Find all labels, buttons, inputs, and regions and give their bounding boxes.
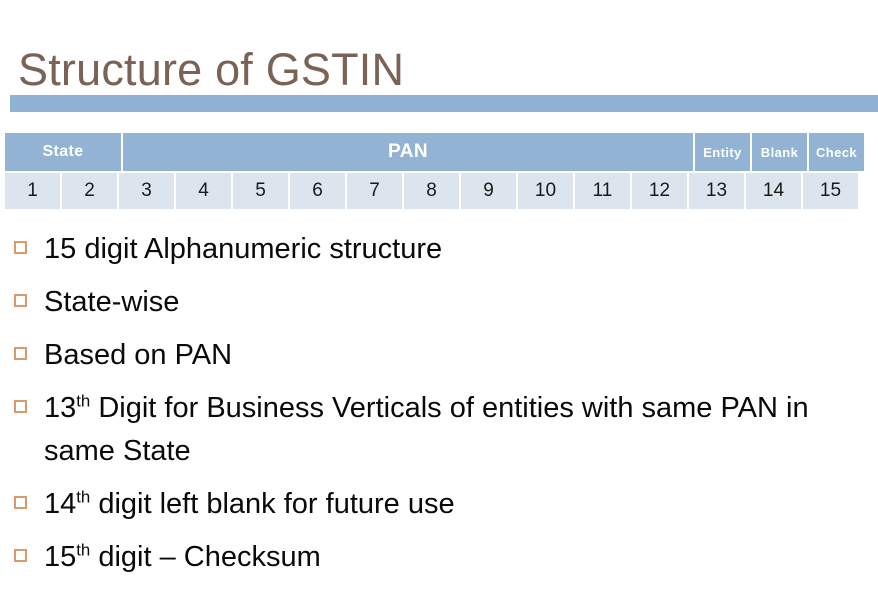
digit-cell: 14: [746, 173, 801, 209]
list-item-superscript: th: [76, 487, 90, 506]
digit-cell: 3: [119, 173, 174, 209]
page-title: Structure of GSTIN: [18, 42, 404, 98]
digit-cell: 15: [803, 173, 858, 209]
digit-cell: 5: [233, 173, 288, 209]
list-item: 13th Digit for Business Verticals of ent…: [14, 387, 872, 473]
list-item: State-wise: [14, 281, 872, 324]
list-item-prefix: 15: [44, 541, 76, 573]
digit-cell: 10: [518, 173, 573, 209]
digit-cell: 2: [62, 173, 117, 209]
list-item: 14th digit left blank for future use: [14, 483, 872, 526]
square-bullet-icon: [14, 241, 27, 254]
square-bullet-icon: [14, 496, 27, 509]
list-item: 15th digit – Checksum: [14, 536, 872, 579]
digit-cell: 8: [404, 173, 459, 209]
list-item-suffix: digit left blank for future use: [90, 488, 454, 520]
digit-cell: 9: [461, 173, 516, 209]
list-item-text: 15th digit – Checksum: [44, 536, 872, 579]
square-bullet-icon: [14, 549, 27, 562]
list-item-prefix: 15 digit Alphanumeric structure: [44, 233, 442, 265]
table-digit-row: 1 2 3 4 5 6 7 8 9 10 11 12 13 14 15: [5, 173, 865, 209]
table-header-row: State PAN Entity Blank Check: [5, 133, 865, 171]
digit-cell: 12: [632, 173, 687, 209]
title-accent-bar: [10, 95, 878, 112]
table-group-header-check: Check: [809, 133, 864, 171]
list-item-prefix: Based on PAN: [44, 339, 232, 371]
list-item-suffix: Digit for Business Verticals of entities…: [44, 392, 809, 467]
digit-cell: 11: [575, 173, 630, 209]
list-item-superscript: th: [76, 540, 90, 559]
list-item-prefix: 13: [44, 392, 76, 424]
table-group-header-state: State: [5, 133, 121, 171]
table-group-header-pan: PAN: [123, 133, 693, 171]
list-item-text: Based on PAN: [44, 334, 872, 377]
list-item-superscript: th: [76, 391, 90, 410]
list-item-text: 15 digit Alphanumeric structure: [44, 228, 872, 271]
digit-cell: 7: [347, 173, 402, 209]
list-item-prefix: 14: [44, 488, 76, 520]
list-item-text: 14th digit left blank for future use: [44, 483, 872, 526]
list-item-prefix: State-wise: [44, 286, 179, 318]
table-group-header-entity: Entity: [695, 133, 750, 171]
square-bullet-icon: [14, 400, 27, 413]
gstin-structure-table: State PAN Entity Blank Check 1 2 3 4 5 6…: [5, 133, 865, 209]
list-item: Based on PAN: [14, 334, 872, 377]
square-bullet-icon: [14, 294, 27, 307]
bullet-list: 15 digit Alphanumeric structure State-wi…: [14, 228, 872, 589]
digit-cell: 4: [176, 173, 231, 209]
list-item: 15 digit Alphanumeric structure: [14, 228, 872, 271]
list-item-suffix: digit – Checksum: [90, 541, 321, 573]
slide-canvas: Structure of GSTIN State PAN Entity Blan…: [0, 0, 878, 599]
square-bullet-icon: [14, 347, 27, 360]
digit-cell: 6: [290, 173, 345, 209]
list-item-text: 13th Digit for Business Verticals of ent…: [44, 387, 872, 473]
digit-cell: 1: [5, 173, 60, 209]
list-item-text: State-wise: [44, 281, 872, 324]
digit-cell: 13: [689, 173, 744, 209]
table-group-header-blank: Blank: [752, 133, 807, 171]
